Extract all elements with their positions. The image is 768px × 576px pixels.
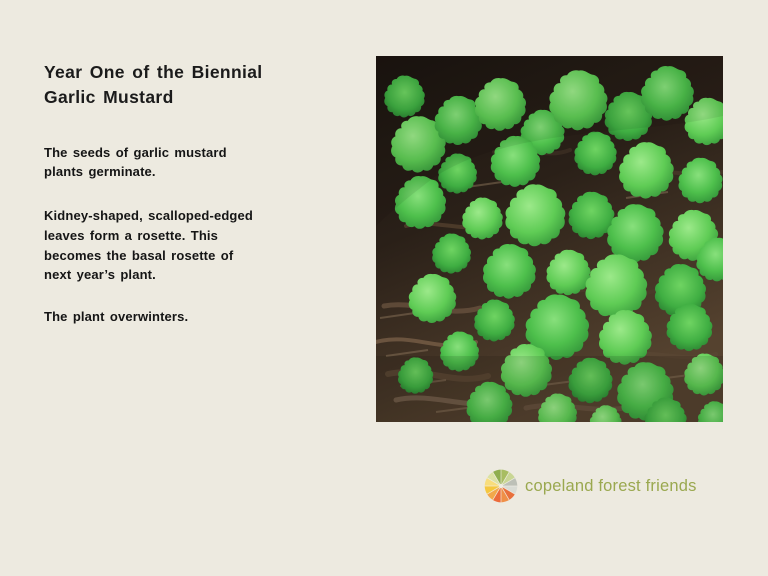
garlic-mustard-photo-image — [376, 56, 723, 422]
page-title: Year One of the Biennial Garlic Mustard — [44, 60, 344, 110]
garlic-mustard-photo — [376, 56, 723, 422]
text-column: Year One of the Biennial Garlic Mustard … — [44, 60, 344, 327]
slide-canvas: Year One of the Biennial Garlic Mustard … — [0, 0, 768, 576]
body-paragraph-1: The seeds of garlic mustard plants germi… — [44, 143, 344, 183]
body-text-block: The seeds of garlic mustard plants germi… — [44, 143, 344, 327]
body-paragraph-3: The plant overwinters. — [44, 307, 344, 327]
body-paragraph-2: Kidney-shaped, scalloped-edged leaves fo… — [44, 206, 344, 285]
copeland-forest-friends-logo: copeland forest friends — [484, 469, 697, 503]
logo-wordmark: copeland forest friends — [525, 478, 697, 495]
pinwheel-circle-icon — [484, 469, 518, 503]
